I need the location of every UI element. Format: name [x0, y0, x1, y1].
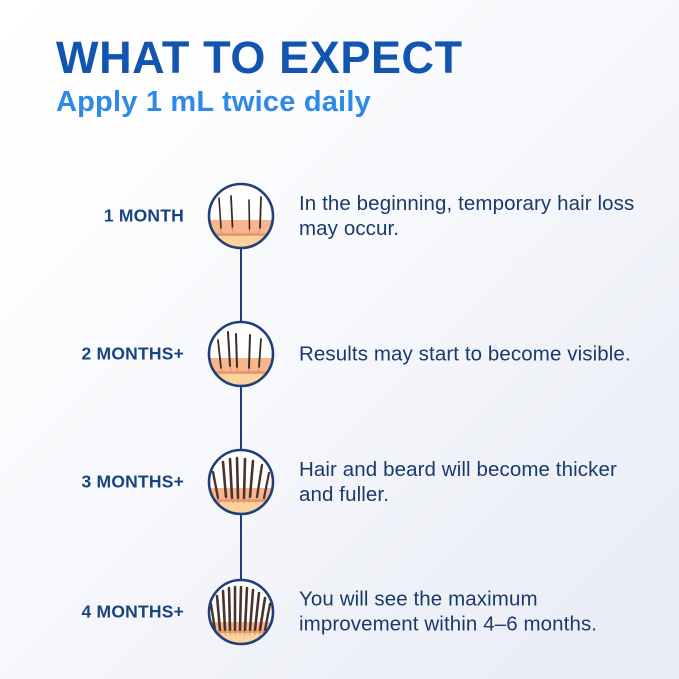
- scalp-sparse-hair-icon: [205, 180, 277, 252]
- step-description-1-month: In the beginning, temporary hair loss ma…: [299, 191, 649, 241]
- page-title: WHAT TO EXPECT: [56, 34, 636, 82]
- scalp-full-hair-icon: [205, 576, 277, 648]
- timeline-step: 4 MONTHS+: [0, 572, 679, 652]
- step-label-4-months: 4 MONTHS+: [20, 602, 184, 623]
- step-description-2-months: Results may start to become visible.: [299, 342, 649, 367]
- timeline-step: 1 MONTH: [0, 176, 679, 256]
- step-label-2-months: 2 MONTHS+: [20, 344, 184, 365]
- timeline-step: 2 MONTHS+: [0, 314, 679, 394]
- timeline: 1 MONTH: [0, 152, 679, 672]
- step-description-3-months: Hair and beard will become thicker and f…: [299, 457, 649, 507]
- timeline-connector-line: [240, 194, 242, 624]
- scalp-growing-hair-icon: [205, 318, 277, 390]
- heading-block: WHAT TO EXPECT Apply 1 mL twice daily: [56, 34, 636, 118]
- scalp-thicker-hair-icon: [205, 446, 277, 518]
- step-description-4-months: You will see the maximum improvement wit…: [299, 588, 649, 637]
- step-label-1-month: 1 MONTH: [20, 206, 184, 227]
- timeline-step: 3 MONTHS+: [0, 442, 679, 522]
- step-label-3-months: 3 MONTHS+: [20, 472, 184, 493]
- infographic-canvas: WHAT TO EXPECT Apply 1 mL twice daily 1 …: [0, 0, 679, 679]
- page-subtitle: Apply 1 mL twice daily: [56, 86, 636, 118]
